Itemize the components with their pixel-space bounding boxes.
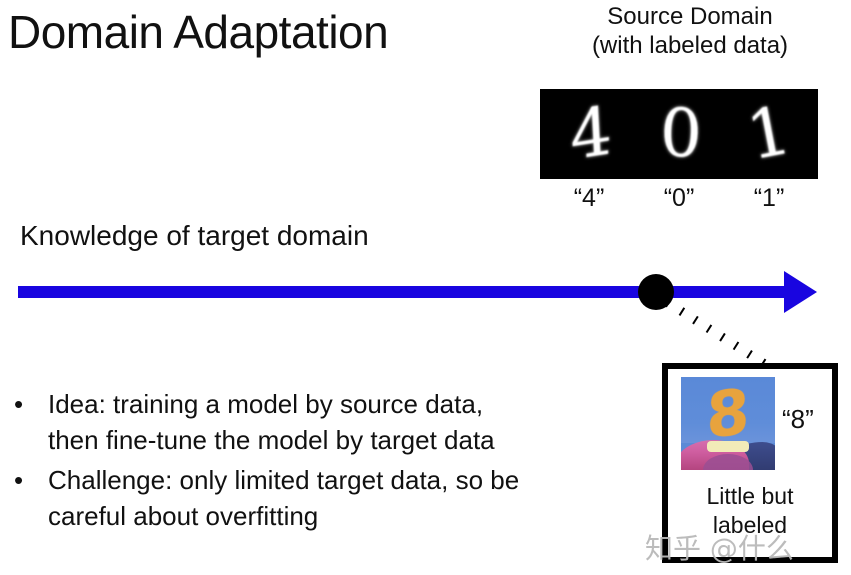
mnist-digit-sample: 0 <box>639 90 724 178</box>
bullet-marker-icon: • <box>14 386 48 422</box>
page-title: Domain Adaptation <box>8 6 388 59</box>
image-digit-glyph: 8 <box>681 378 774 450</box>
bullet-text: Challenge: only limited target data, so … <box>48 462 634 534</box>
bullet-text-line1: Idea: training a model by source data, <box>48 386 634 422</box>
mnist-sample-label: “1” <box>726 184 812 213</box>
bullet-marker-icon: • <box>14 462 48 498</box>
source-domain-caption: Source Domain (with labeled data) <box>530 2 850 61</box>
source-domain-caption-line1: Source Domain <box>530 2 850 31</box>
axis-marker-dot-icon <box>638 274 674 310</box>
mnist-sample-label: “4” <box>546 184 632 213</box>
knowledge-axis-arrow-line <box>18 286 800 298</box>
bullet-text-line2: careful about overfitting <box>48 498 634 534</box>
knowledge-axis-heading: Knowledge of target domain <box>20 220 369 252</box>
mnist-digit-sample: 4 <box>548 89 633 179</box>
list-item: • Challenge: only limited target data, s… <box>14 462 634 534</box>
source-domain-labels: “4” “0” “1” <box>540 184 818 216</box>
mnist-sample-label: “0” <box>636 184 722 213</box>
slide-canvas: Domain Adaptation Source Domain (with la… <box>0 0 851 575</box>
source-domain-caption-line2: (with labeled data) <box>530 31 850 60</box>
list-item: • Idea: training a model by source data,… <box>14 386 634 458</box>
target-domain-image: 8 <box>681 377 775 470</box>
source-domain-image-panel: 4 0 1 <box>540 89 818 179</box>
target-domain-digit-label: “8” <box>782 404 814 435</box>
mnist-digit-sample: 1 <box>721 89 817 179</box>
bullet-text-line1: Challenge: only limited target data, so … <box>48 462 634 498</box>
zhihu-watermark: 知乎 @什么 <box>645 527 794 567</box>
bullet-list: • Idea: training a model by source data,… <box>14 386 634 538</box>
knowledge-axis-arrowhead-icon <box>784 271 817 313</box>
bullet-text-line2: then fine-tune the model by target data <box>48 422 634 458</box>
bullet-text: Idea: training a model by source data, t… <box>48 386 634 458</box>
target-domain-caption-line1: Little but <box>666 482 834 511</box>
